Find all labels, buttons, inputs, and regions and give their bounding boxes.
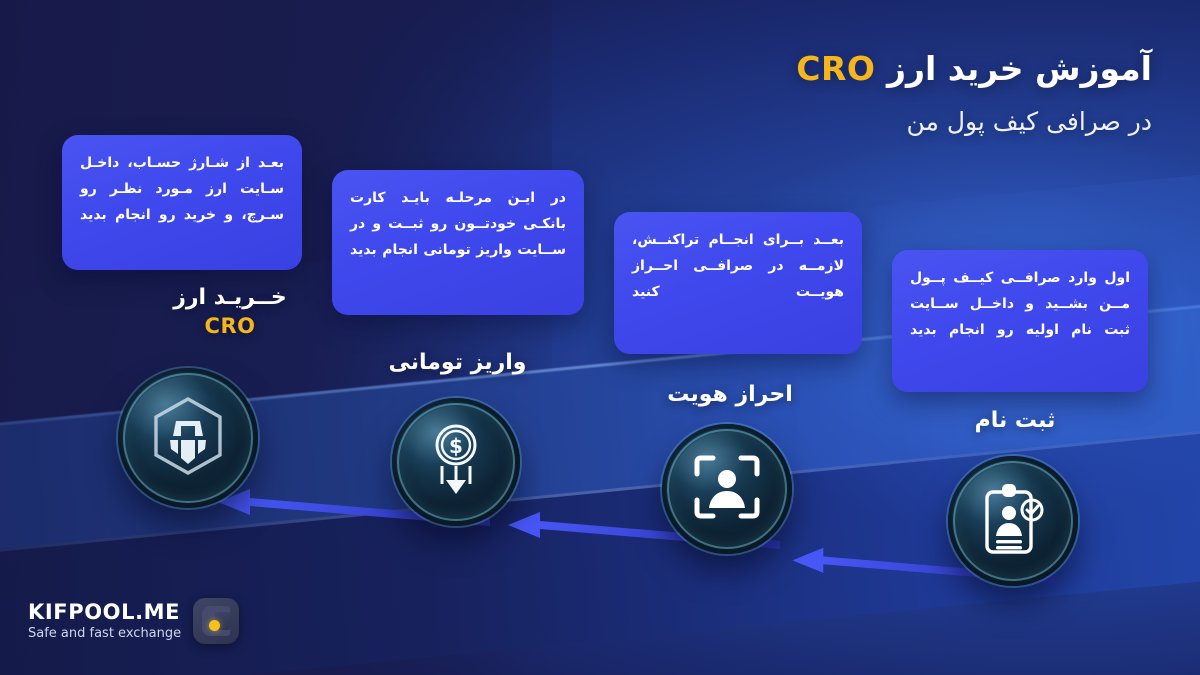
step-card-text: اول وارد صرافــی کیــف پــول مــن بشــید… (910, 266, 1130, 344)
step-label-text: واریز تومانی (389, 350, 527, 375)
brand-name: KIFPOOL.ME (28, 601, 181, 623)
step-label-text: خــریـد ارز (173, 285, 287, 310)
face-scan-identity-icon (691, 452, 763, 526)
step-card-text: بعــد بــرای انجــام تراکنــش، لازمــه د… (632, 228, 844, 306)
id-card-verified-icon (977, 480, 1049, 562)
step-card-text: در ایـن مرحلـه بایـد کارت بانکـی خودتــو… (350, 186, 566, 264)
page-title-accent: CRO (796, 49, 875, 88)
step-label-accent: CRO (150, 313, 310, 340)
step-label-text: ثبت نام (975, 408, 1056, 433)
page-title-text: آموزش خرید ارز (875, 49, 1152, 88)
step-label-kyc: احراز هویت (650, 382, 810, 407)
step-card-kyc[interactable]: بعــد بــرای انجــام تراکنــش، لازمــه د… (614, 212, 862, 354)
step-label-signup: ثبت نام (940, 408, 1090, 433)
svg-text:$: $ (449, 434, 463, 458)
coin-signup[interactable] (948, 456, 1078, 586)
page-title: آموزش خرید ارز CRO (796, 48, 1152, 89)
step-card-buy[interactable]: بعـد از شـارژ حسـاب، داخـل سـایت ارز مـو… (62, 135, 302, 270)
brand-logo[interactable]: KIFPOOL.ME Safe and fast exchange (28, 598, 239, 644)
coin-identity-verification[interactable] (662, 424, 792, 554)
step-label-buy: خــریـد ارز CRO (150, 284, 310, 340)
step-card-text: بعـد از شـارژ حسـاب، داخـل سـایت ارز مـو… (80, 151, 284, 229)
cro-coin-icon (151, 396, 225, 480)
step-card-deposit[interactable]: در ایـن مرحلـه بایـد کارت بانکـی خودتــو… (332, 170, 584, 315)
coin-toman-deposit[interactable]: $ (392, 398, 520, 526)
header: آموزش خرید ارز CRO در صرافی کیف پول من (796, 48, 1152, 136)
coin-buy-cro[interactable] (118, 368, 258, 508)
step-card-signup[interactable]: اول وارد صرافــی کیــف پــول مــن بشــید… (892, 250, 1148, 392)
brand-text: KIFPOOL.ME Safe and fast exchange (28, 601, 181, 641)
step-label-text: احراز هویت (667, 382, 793, 407)
step-label-deposit: واریز تومانی (375, 350, 540, 375)
brand-tagline: Safe and fast exchange (28, 627, 181, 641)
infographic-canvas: آموزش خرید ارز CRO در صرافی کیف پول من ب… (0, 0, 1200, 675)
page-subtitle: در صرافی کیف پول من (796, 107, 1152, 136)
wallet-logo-icon (193, 598, 239, 644)
dollar-deposit-arrow-icon: $ (422, 422, 490, 502)
